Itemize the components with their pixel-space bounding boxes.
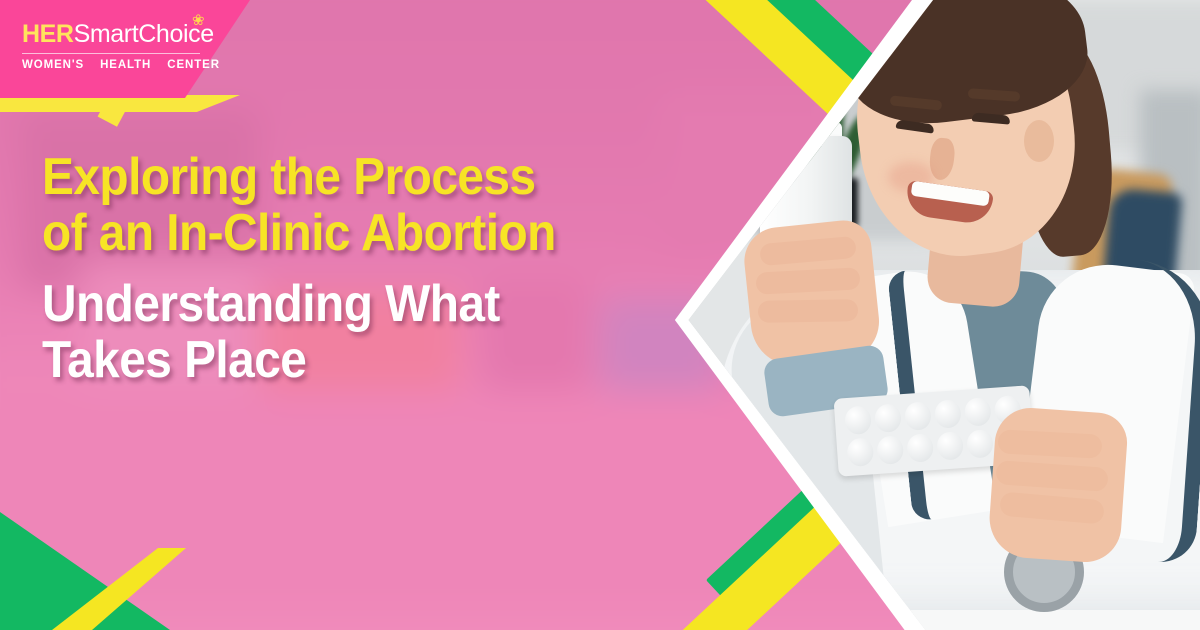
logo-tagline: WOMEN'S HEALTH CENTER	[22, 59, 222, 71]
tagline-center: CENTER	[167, 59, 220, 71]
logo-divider	[22, 53, 200, 54]
site-logo[interactable]: HERSmartChoice ❀ WOMEN'S HEALTH CENTER	[22, 22, 222, 71]
blog-banner: HERSmartChoice ❀ WOMEN'S HEALTH CENTER E…	[0, 0, 1200, 630]
headline-line-2: of an In-Clinic Abortion	[42, 206, 640, 262]
headline-line-1: Exploring the Process	[42, 150, 640, 206]
tagline-health: HEALTH	[100, 59, 151, 71]
logo-smart-text: Smart	[74, 20, 139, 48]
butterfly-icon: ❀	[192, 13, 208, 26]
headline-block: Exploring the Process of an In-Clinic Ab…	[42, 150, 692, 389]
logo-her-text: HER	[22, 20, 74, 48]
tagline-womens: WOMEN'S	[22, 59, 84, 71]
headline-line-4: Takes Place	[42, 333, 640, 389]
logo-wordmark: HERSmartChoice ❀	[22, 22, 222, 47]
headline-line-3: Understanding What	[42, 277, 640, 333]
